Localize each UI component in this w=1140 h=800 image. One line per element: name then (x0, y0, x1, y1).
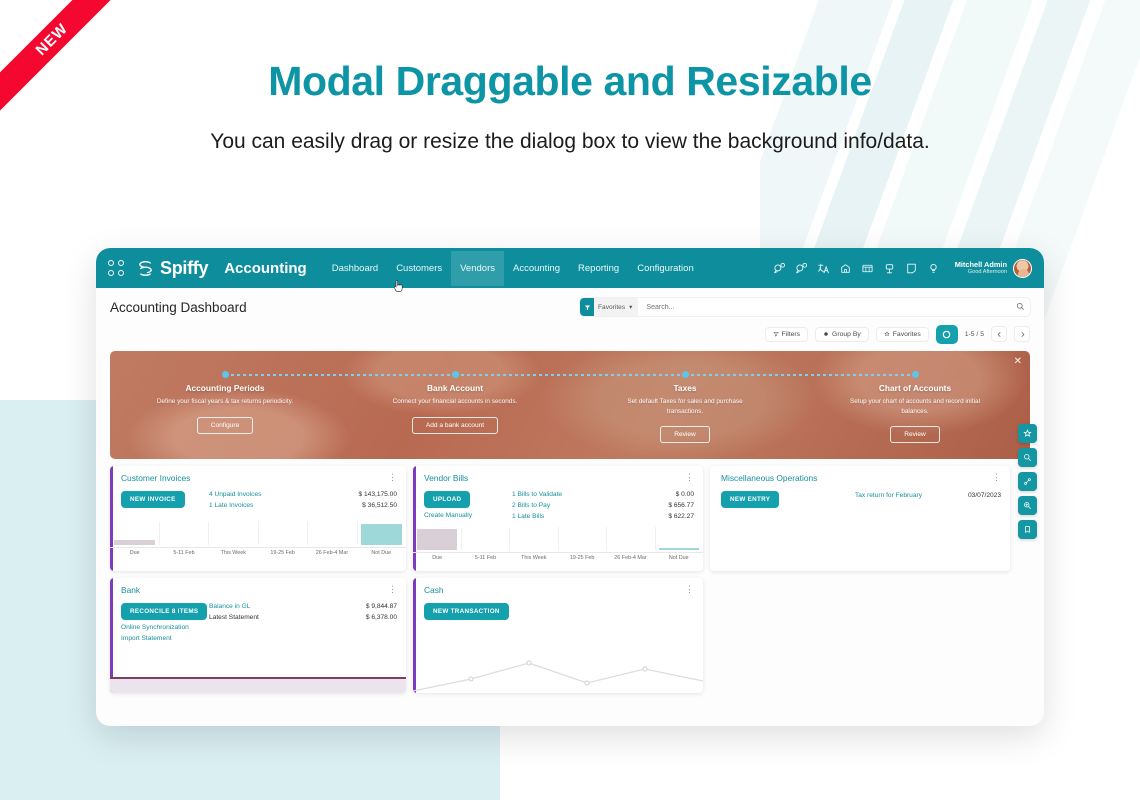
card-actions: RECONCILE 8 ITEMS Online Synchronization… (121, 600, 209, 642)
search-input[interactable] (638, 304, 1016, 311)
user-name: Mitchell Admin (955, 260, 1007, 269)
balance-in-gl-link[interactable]: Balance in GL (209, 602, 366, 613)
apps-grid-icon[interactable] (108, 260, 124, 276)
right-action-rail (1018, 424, 1037, 539)
tick-due: Due (110, 550, 159, 556)
search-icon[interactable] (1016, 298, 1025, 316)
search-bar[interactable]: Favorites ▾ (580, 298, 1030, 316)
nav-item-reporting[interactable]: Reporting (569, 251, 628, 286)
tick-19-25-feb: 19-25 Feb (258, 550, 307, 556)
card-links: 4 Unpaid Invoices 1 Late Invoices (209, 488, 358, 512)
card-body: NEW INVOICE 4 Unpaid Invoices 1 Late Inv… (110, 485, 406, 512)
new-ribbon-label: NEW (0, 0, 125, 113)
kebab-menu-icon[interactable]: ⋮ (992, 475, 1001, 480)
step-dot (222, 371, 229, 378)
card-bank: Bank ⋮ RECONCILE 8 ITEMS Online Synchron… (110, 578, 406, 693)
new-invoice-button[interactable]: NEW INVOICE (121, 491, 185, 508)
top-navbar: Spiffy Accounting Dashboard Customers Ve… (96, 248, 1044, 288)
spiffy-mark-icon (136, 259, 155, 278)
kebab-menu-icon[interactable]: ⋮ (388, 475, 397, 480)
app-name: Accounting (224, 260, 307, 277)
activity-icon[interactable] (839, 262, 852, 275)
card-vendor-bills: Vendor Bills ⋮ UPLOAD Create Manually 1 … (413, 466, 703, 571)
favorites-toolbar-label: Favorites (893, 331, 921, 338)
zoom-search-icon[interactable] (1018, 496, 1037, 515)
bar-not-due (659, 548, 699, 550)
late-invoices-value: $ 36,512.50 (358, 501, 397, 512)
step-dot (452, 371, 459, 378)
step-connector (685, 374, 915, 376)
card-actions: NEW TRANSACTION (424, 600, 512, 620)
onboarding-banner: ✕ Accounting Periods Define your fiscal … (110, 351, 1030, 459)
chart-bars (110, 522, 406, 545)
kebab-menu-icon[interactable]: ⋮ (685, 587, 694, 592)
hero-subtitle: You can easily drag or resize the dialog… (0, 127, 1140, 157)
page-root: NEW Modal Draggable and Resizable You ca… (0, 0, 1140, 800)
reconcile-items-button[interactable]: RECONCILE 8 ITEMS (121, 603, 207, 620)
customer-invoices-chart: Due 5-11 Feb This Week 19-25 Feb 26 Feb-… (110, 522, 406, 556)
card-body: RECONCILE 8 ITEMS Online Synchronization… (110, 597, 406, 642)
filters-label: Filters (782, 331, 801, 338)
card-actions: UPLOAD Create Manually (424, 488, 512, 523)
unpaid-invoices-link[interactable]: 4 Unpaid Invoices (209, 490, 358, 501)
card-header: Vendor Bills ⋮ (413, 466, 703, 485)
nav-item-accounting[interactable]: Accounting (504, 251, 569, 286)
nav-item-configuration[interactable]: Configuration (628, 251, 703, 286)
bills-to-validate-link[interactable]: 1 Bills to Validate (512, 490, 668, 501)
step-dot (912, 371, 919, 378)
card-links: Balance in GL Latest Statement (209, 600, 366, 642)
step-dot (682, 371, 689, 378)
star-icon[interactable] (1018, 424, 1037, 443)
toolbar-row: Filters Group By Favorites 1-5 / 5 (96, 322, 1044, 346)
new-ribbon: NEW (0, 0, 130, 130)
bookmark-icon[interactable] (1018, 520, 1037, 539)
unpaid-invoices-value: $ 143,175.00 (358, 490, 397, 501)
tick-this-week: This Week (209, 550, 258, 556)
chart-x-axis: Due 5-11 Feb This Week 19-25 Feb 26 Feb-… (413, 552, 703, 561)
kanban-view-button[interactable] (936, 325, 958, 344)
card-title: Customer Invoices (121, 473, 190, 483)
card-values: $ 9,844.87 $ 6,378.00 (366, 600, 397, 642)
review-coa-button[interactable]: Review (890, 426, 940, 443)
late-bills-value: $ 622.27 (668, 512, 694, 523)
tick-not-due: Not Due (357, 550, 406, 556)
tick-due: Due (413, 555, 461, 561)
brand-name: Spiffy (160, 258, 208, 279)
tick-5-11-feb: 5-11 Feb (159, 550, 208, 556)
mouse-cursor (392, 278, 406, 294)
step-desc: Set default Taxes for sales and purchase… (615, 397, 755, 416)
step-title: Accounting Periods (110, 383, 340, 393)
card-header: Customer Invoices ⋮ (110, 466, 406, 485)
step-connector (225, 374, 455, 376)
filter-funnel-icon (580, 298, 594, 316)
chat-icon[interactable] (795, 262, 808, 275)
filters-button[interactable]: Filters (765, 327, 809, 342)
new-transaction-button[interactable]: NEW TRANSACTION (424, 603, 509, 620)
tax-return-label[interactable]: Tax return for February (809, 488, 968, 499)
chart-x-axis: Due 5-11 Feb This Week 19-25 Feb 26 Feb-… (110, 547, 406, 556)
chevron-down-icon: ▾ (629, 303, 632, 311)
chart-bars (413, 527, 703, 550)
latest-statement-label: Latest Statement (209, 613, 366, 624)
card-header: Bank ⋮ (110, 578, 406, 597)
onboarding-step-taxes: Taxes Set default Taxes for sales and pu… (570, 351, 800, 459)
latest-statement-value: $ 6,378.00 (366, 613, 397, 624)
group-by-label: Group By (832, 331, 861, 338)
review-taxes-button[interactable]: Review (660, 426, 710, 443)
cash-trend-line (413, 647, 703, 693)
card-actions: NEW INVOICE (121, 488, 209, 512)
add-bank-account-button[interactable]: Add a bank account (412, 417, 498, 434)
cash-line-chart (413, 647, 703, 693)
mail-icon[interactable] (861, 262, 874, 275)
nav-item-vendors[interactable]: Vendors (451, 251, 504, 286)
online-synchronization-link[interactable]: Online Synchronization (121, 624, 209, 631)
create-manually-link[interactable]: Create Manually (424, 512, 512, 519)
avatar[interactable] (1013, 259, 1032, 278)
lightbulb-icon[interactable] (927, 262, 940, 275)
card-links: 1 Bills to Validate 2 Bills to Pay 1 Lat… (512, 488, 668, 523)
tick-26-feb-4-mar: 26 Feb-4 Mar (307, 550, 356, 556)
tick-5-11-feb: 5-11 Feb (461, 555, 509, 561)
user-greeting: Good Afternoon (955, 269, 1007, 276)
kebab-menu-icon[interactable]: ⋮ (685, 475, 694, 480)
translate-icon[interactable] (817, 262, 830, 275)
upload-button[interactable]: UPLOAD (424, 491, 470, 508)
onboarding-step-bank-account: Bank Account Connect your financial acco… (340, 351, 570, 459)
step-desc: Setup your chart of accounts and record … (845, 397, 985, 416)
tick-26-feb-4-mar: 26 Feb-4 Mar (606, 555, 654, 561)
search-icon[interactable] (1018, 448, 1037, 467)
pager-label: 1-5 / 5 (965, 331, 984, 338)
tick-19-25-feb: 19-25 Feb (558, 555, 606, 561)
import-statement-link[interactable]: Import Statement (121, 635, 209, 642)
tax-return-date: 03/07/2023 (968, 488, 1001, 499)
card-cash: Cash ⋮ NEW TRANSACTION (413, 578, 703, 693)
onboarding-step-chart-of-accounts: Chart of Accounts Setup your chart of ac… (800, 351, 1030, 459)
card-values: $ 143,175.00 $ 36,512.50 (358, 488, 397, 512)
messages-icon[interactable] (773, 262, 786, 275)
card-body: NEW TRANSACTION (413, 597, 703, 620)
note-icon[interactable] (905, 262, 918, 275)
tick-not-due: Not Due (655, 555, 703, 561)
step-title: Chart of Accounts (800, 383, 1030, 393)
onboarding-step-accounting-periods: Accounting Periods Define your fiscal ye… (110, 351, 340, 459)
new-entry-button[interactable]: NEW ENTRY (721, 491, 779, 508)
card-title: Miscellaneous Operations (721, 473, 817, 483)
balance-in-gl-value: $ 9,844.87 (366, 602, 397, 613)
bills-to-pay-value: $ 656.77 (668, 501, 694, 512)
dashboard-cards: Customer Invoices ⋮ NEW INVOICE 4 Unpaid… (96, 459, 1044, 693)
next-page-button[interactable] (1014, 326, 1030, 342)
bills-to-validate-value: $ 0.00 (668, 490, 694, 501)
late-bills-link[interactable]: 1 Late Bills (512, 512, 668, 523)
tick-this-week: This Week (510, 555, 558, 561)
bar-not-due (361, 524, 402, 545)
dashboard-title: Accounting Dashboard (110, 300, 247, 315)
hero-section: Modal Draggable and Resizable You can ea… (0, 58, 1140, 157)
favorites-chip-label: Favorites (598, 304, 625, 311)
kanban-icon (941, 329, 952, 340)
app-window: Spiffy Accounting Dashboard Customers Ve… (96, 248, 1044, 726)
card-actions: NEW ENTRY (721, 488, 809, 508)
navbar-actions: Mitchell Admin Good Afternoon (773, 259, 1032, 278)
card-header: Cash ⋮ (413, 578, 703, 597)
card-header: Miscellaneous Operations ⋮ (710, 466, 1010, 485)
favorites-filter-chip[interactable]: Favorites ▾ (580, 298, 638, 316)
bar-due (114, 540, 155, 545)
kebab-menu-icon[interactable]: ⋮ (388, 587, 397, 592)
favorites-button[interactable]: Favorites (876, 327, 929, 342)
card-customer-invoices: Customer Invoices ⋮ NEW INVOICE 4 Unpaid… (110, 466, 406, 571)
step-connector (455, 374, 685, 376)
step-desc: Connect your financial accounts in secon… (385, 397, 525, 407)
bug-icon[interactable] (883, 262, 896, 275)
card-body: NEW ENTRY Tax return for February 03/07/… (710, 485, 1010, 508)
page-title: Modal Draggable and Resizable (0, 58, 1140, 105)
step-desc: Define your fiscal years & tax returns p… (155, 397, 295, 407)
card-title: Vendor Bills (424, 473, 468, 483)
control-row: Accounting Dashboard Favorites ▾ (96, 292, 1044, 322)
card-title: Bank (121, 585, 140, 595)
card-title: Cash (424, 585, 444, 595)
configure-button[interactable]: Configure (197, 417, 254, 434)
brand-logo[interactable]: Spiffy (136, 258, 208, 279)
expand-icon[interactable] (1018, 472, 1037, 491)
group-by-button[interactable]: Group By (815, 327, 869, 342)
nav-links: Dashboard Customers Vendors Accounting R… (323, 251, 703, 286)
onboarding-steps: Accounting Periods Define your fiscal ye… (110, 351, 1030, 459)
nav-item-dashboard[interactable]: Dashboard (323, 251, 387, 286)
late-invoices-link[interactable]: 1 Late Invoices (209, 501, 358, 512)
step-title: Bank Account (340, 383, 570, 393)
vendor-bills-chart: Due 5-11 Feb This Week 19-25 Feb 26 Feb-… (413, 527, 703, 561)
user-menu[interactable]: Mitchell Admin Good Afternoon (955, 259, 1032, 278)
card-values: $ 0.00 $ 656.77 $ 622.27 (668, 488, 694, 523)
prev-page-button[interactable] (991, 326, 1007, 342)
bar-due (417, 529, 457, 550)
card-misc-operations: Miscellaneous Operations ⋮ NEW ENTRY Tax… (710, 466, 1010, 571)
bank-balance-bar (110, 677, 406, 693)
card-body: UPLOAD Create Manually 1 Bills to Valida… (413, 485, 703, 523)
user-info: Mitchell Admin Good Afternoon (955, 260, 1007, 276)
bills-to-pay-link[interactable]: 2 Bills to Pay (512, 501, 668, 512)
step-title: Taxes (570, 383, 800, 393)
